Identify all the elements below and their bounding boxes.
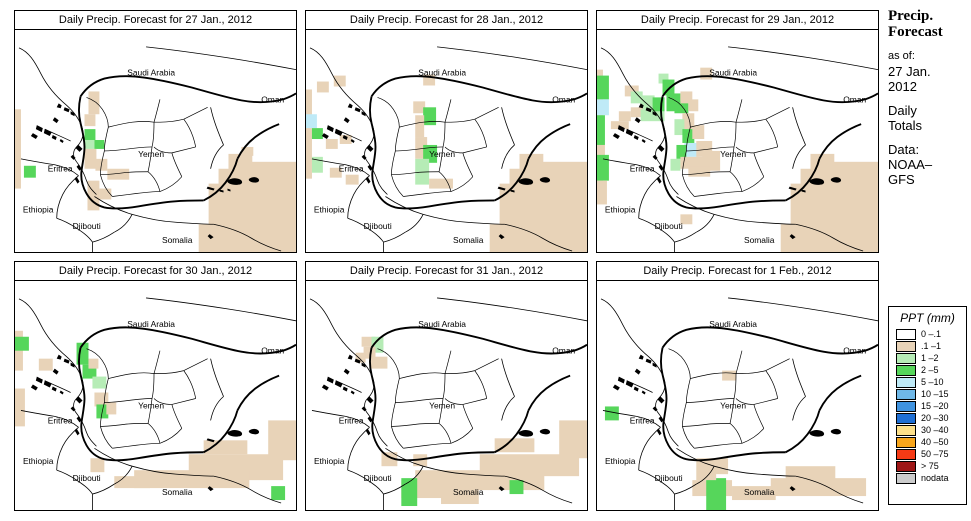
legend-label: 5 –10 [921,378,944,387]
svg-text:Eritrea: Eritrea [339,164,364,174]
legend-swatch [896,449,916,460]
svg-text:Ethiopia: Ethiopia [314,456,345,466]
legend-label: 1 –2 [921,354,939,363]
map-canvas-4: Saudi Arabia Oman Yemen Eritrea Ethiopia… [15,281,296,510]
legend-row: > 75 [896,460,966,472]
svg-text:Saudi Arabia: Saudi Arabia [127,319,175,329]
panel-title: Daily Precip. Forecast for 27 Jan., 2012 [15,11,296,30]
svg-text:Saudi Arabia: Saudi Arabia [418,319,466,329]
legend-label: .1 –1 [921,342,941,351]
legend-swatch [896,341,916,352]
map-label-djibouti: Djibouti [73,221,101,231]
forecast-panel-1: Daily Precip. Forecast for 27 Jan., 2012 [14,10,297,253]
map-canvas-5: Saudi Arabia Oman Yemen Eritrea Ethiopia… [306,281,587,510]
legend-label: nodata [921,474,949,483]
svg-text:Yemen: Yemen [429,400,455,410]
svg-text:Ethiopia: Ethiopia [605,456,636,466]
svg-text:Yemen: Yemen [429,149,455,159]
info-sidebar: Precip. Forecast as of: 27 Jan. 2012 Dai… [888,8,971,187]
sidebar-totals-line1: Daily [888,103,971,118]
map-label-ethiopia: Ethiopia [23,204,54,214]
legend-swatch [896,425,916,436]
map-label-saudi-arabia: Saudi Arabia [127,68,175,78]
sidebar-as-of-date-line2: 2012 [888,79,971,94]
sidebar-totals-line2: Totals [888,118,971,133]
svg-text:Somalia: Somalia [453,487,484,497]
svg-text:Somalia: Somalia [162,487,193,497]
legend-row: 40 –50 [896,436,966,448]
forecast-panel-6: Daily Precip. Forecast for 1 Feb., 2012 [596,261,879,511]
panel-title: Daily Precip. Forecast for 1 Feb., 2012 [597,262,878,281]
svg-text:Oman: Oman [261,346,284,356]
svg-text:Ethiopia: Ethiopia [314,204,345,214]
svg-text:Ethiopia: Ethiopia [605,204,636,214]
legend-row: 15 –20 [896,400,966,412]
panel-title: Daily Precip. Forecast for 30 Jan., 2012 [15,262,296,281]
svg-text:Djibouti: Djibouti [364,473,392,483]
sidebar-as-of-label: as of: [888,49,971,64]
legend-swatch [896,413,916,424]
svg-text:Eritrea: Eritrea [339,415,364,425]
map-canvas-2: Saudi Arabia Oman Yemen Eritrea Ethiopia… [306,30,587,252]
svg-text:Eritrea: Eritrea [48,415,73,425]
legend-row: 2 –5 [896,364,966,376]
legend-swatch [896,473,916,484]
forecast-panel-2: Daily Precip. Forecast for 28 Jan., 2012 [305,10,588,253]
svg-text:Saudi Arabia: Saudi Arabia [709,319,757,329]
sidebar-data-block: Data: NOAA– GFS [888,142,971,187]
legend-swatch [896,401,916,412]
sidebar-data-source-line2: GFS [888,172,971,187]
precip-legend: PPT (mm) 0 –.1.1 –11 –22 –55 –1010 –1515… [888,306,967,505]
panel-title: Daily Precip. Forecast for 31 Jan., 2012 [306,262,587,281]
svg-text:Yemen: Yemen [138,400,164,410]
legend-swatch [896,437,916,448]
svg-text:Yemen: Yemen [720,149,746,159]
legend-swatch [896,365,916,376]
svg-text:Somalia: Somalia [744,235,775,245]
legend-row: 10 –15 [896,388,966,400]
forecast-panel-4: Daily Precip. Forecast for 30 Jan., 2012 [14,261,297,511]
legend-label: 2 –5 [921,366,939,375]
legend-row: 20 –30 [896,412,966,424]
legend-label: 50 –75 [921,450,949,459]
svg-text:Somalia: Somalia [453,235,484,245]
svg-text:Djibouti: Djibouti [655,221,683,231]
legend-label: 40 –50 [921,438,949,447]
forecast-panel-5: Daily Precip. Forecast for 31 Jan., 2012 [305,261,588,511]
legend-row: 50 –75 [896,448,966,460]
svg-text:Djibouti: Djibouti [73,473,101,483]
precip-cells [597,68,878,252]
sidebar-data-source-line1: NOAA– [888,157,971,172]
legend-entries: 0 –.1.1 –11 –22 –55 –1010 –1515 –2020 –3… [896,328,966,484]
sidebar-title-line2: Forecast [888,24,971,40]
legend-swatch [896,329,916,340]
sidebar-totals-block: Daily Totals [888,103,971,133]
svg-text:Saudi Arabia: Saudi Arabia [709,68,757,78]
sidebar-as-of-block: as of: 27 Jan. 2012 [888,49,971,94]
legend-row: 1 –2 [896,352,966,364]
legend-title: PPT (mm) [889,311,966,325]
legend-row: nodata [896,472,966,484]
sidebar-data-label: Data: [888,142,971,157]
legend-label: 10 –15 [921,390,949,399]
map-label-eritrea: Eritrea [48,164,73,174]
legend-swatch [896,389,916,400]
legend-label: 20 –30 [921,414,949,423]
map-label-somalia: Somalia [162,235,193,245]
legend-swatch [896,377,916,388]
map-canvas-1: Saudi Arabia Oman Yemen Eritrea Ethiopia… [15,30,296,252]
svg-text:Saudi Arabia: Saudi Arabia [418,68,466,78]
panel-title: Daily Precip. Forecast for 28 Jan., 2012 [306,11,587,30]
legend-row: .1 –1 [896,340,966,352]
legend-label: 30 –40 [921,426,949,435]
legend-label: 15 –20 [921,402,949,411]
map-canvas-3: Saudi Arabia Oman Yemen Eritrea Ethiopia… [597,30,878,252]
map-canvas-6: Saudi Arabia Oman Yemen Eritrea Ethiopia… [597,281,878,510]
legend-row: 30 –40 [896,424,966,436]
panel-title: Daily Precip. Forecast for 29 Jan., 2012 [597,11,878,30]
svg-text:Oman: Oman [552,346,575,356]
forecast-panel-3: Daily Precip. Forecast for 29 Jan., 2012 [596,10,879,253]
map-label-yemen: Yemen [138,149,164,159]
sidebar-title: Precip. Forecast [888,8,971,40]
sidebar-as-of-date-line1: 27 Jan. [888,64,971,79]
svg-text:Oman: Oman [843,346,866,356]
legend-label: > 75 [921,462,939,471]
legend-label: 0 –.1 [921,330,941,339]
legend-swatch [896,461,916,472]
legend-row: 5 –10 [896,376,966,388]
legend-swatch [896,353,916,364]
svg-text:Djibouti: Djibouti [655,473,683,483]
svg-text:Oman: Oman [552,94,575,104]
svg-text:Eritrea: Eritrea [630,164,655,174]
svg-text:Oman: Oman [843,94,866,104]
svg-text:Yemen: Yemen [720,400,746,410]
legend-row: 0 –.1 [896,328,966,340]
svg-text:Eritrea: Eritrea [630,415,655,425]
map-label-oman: Oman [261,94,284,104]
svg-text:Djibouti: Djibouti [364,221,392,231]
sidebar-title-line1: Precip. [888,8,971,24]
svg-text:Ethiopia: Ethiopia [23,456,54,466]
svg-text:Somalia: Somalia [744,487,775,497]
